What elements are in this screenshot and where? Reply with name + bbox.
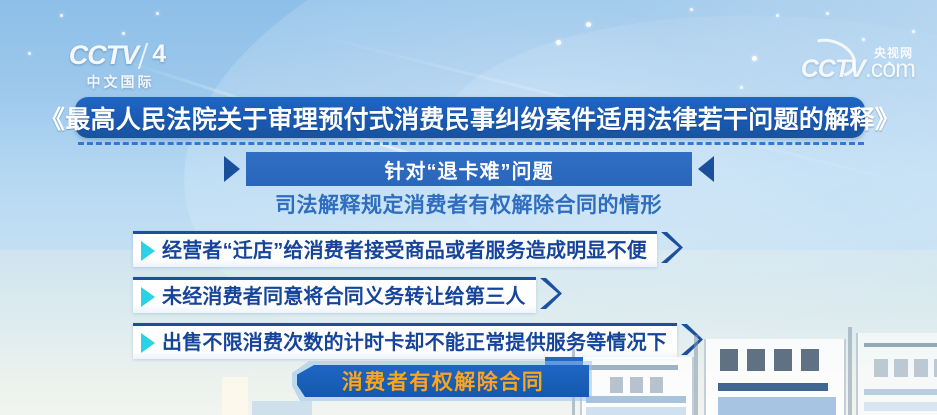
sparkle-icon: [776, 14, 779, 17]
bullet-row-text: 未经消费者同意将合同义务转让给第三人: [162, 287, 526, 307]
channel-logo-subtitle: 中文国际: [58, 72, 183, 92]
building-block: [704, 339, 846, 415]
channel-logo-mark: CCTV: [69, 40, 139, 71]
building-edge: [848, 327, 852, 415]
sub-banner-text: 针对“退卡难”问题: [385, 155, 554, 184]
sparkle-icon: [912, 30, 915, 33]
triangle-bullet-icon: [141, 241, 155, 261]
channel-logo-number: 4: [150, 40, 172, 71]
sparkle-icon: [752, 56, 757, 61]
sub-banner-group: 针对“退卡难”问题: [224, 152, 714, 186]
building-block-small: [222, 377, 248, 415]
sparkle-icon: [122, 32, 125, 35]
watermark-domain: .com: [865, 55, 915, 83]
sparkle-icon: [60, 14, 63, 17]
arrow-right-icon: [224, 156, 240, 182]
bullet-row: 经营者“迁店”给消费者接受商品或者服务造成明显不便: [133, 231, 685, 264]
arrow-left-icon: [698, 156, 714, 182]
sub-banner: 针对“退卡难”问题: [246, 152, 692, 186]
sub-heading-text: 司法解释规定消费者有权解除合同的情形: [0, 189, 937, 219]
sparkle-icon: [556, 40, 561, 45]
sparkle-icon: [690, 8, 693, 11]
watermark: 央视网 CCTV.com: [801, 44, 915, 84]
channel-logo: CCTV 4 中文国际: [58, 40, 183, 92]
bullet-row-bar: 经营者“迁店”给消费者接受商品或者服务造成明显不便: [133, 231, 657, 267]
headline-text: 《最高人民法院关于审理预付式消费民事纠纷案件适用法律若干问题的解释》: [40, 100, 900, 136]
channel-logo-slash-icon: [138, 43, 148, 69]
bottom-banner-text: 消费者有权解除合同: [342, 366, 545, 396]
broadcast-graphic-frame: CCTV 4 中文国际 央视网 CCTV.com 《最高人民法院关于审理预付式消…: [0, 0, 937, 415]
sparkle-icon: [586, 22, 591, 27]
sparkle-icon: [156, 12, 159, 15]
bullet-row-text: 经营者“迁店”给消费者接受商品或者服务造成明显不便: [162, 241, 647, 261]
building-block: [856, 333, 937, 415]
sparkle-icon: [28, 52, 31, 55]
sparkle-icon: [826, 12, 829, 15]
building-block-small: [252, 401, 312, 415]
sparkle-icon: [862, 38, 865, 41]
headline-banner: 《最高人民法院关于审理预付式消费民事纠纷案件适用法律若干问题的解释》: [75, 97, 865, 138]
headline-dashed-divider: [78, 142, 864, 145]
chevron-right-icon: [659, 231, 685, 264]
building-edge: [694, 335, 698, 415]
building-block: [580, 357, 694, 415]
sparkle-icon: [740, 86, 743, 89]
bottom-banner: 消费者有权解除合同: [297, 365, 589, 397]
triangle-bullet-icon: [141, 287, 155, 307]
